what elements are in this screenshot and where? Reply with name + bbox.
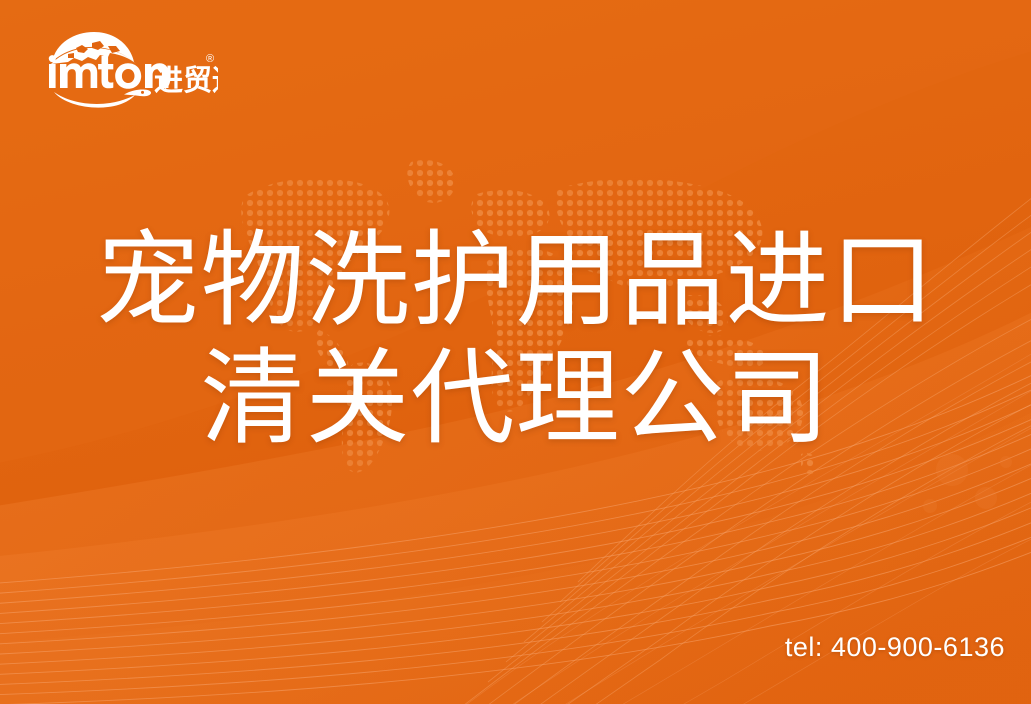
headline-line-2: 清关代理公司 xyxy=(0,340,1031,458)
headline: 宠物洗护用品进口 清关代理公司 xyxy=(0,222,1031,458)
headline-line-1: 宠物洗护用品进口 xyxy=(0,222,1031,340)
brand-logo[interactable]: 进贸通 ® xyxy=(38,26,218,108)
logo-chinese-name: 进贸通 xyxy=(154,64,218,97)
telephone-number[interactable]: tel: 400-900-6136 xyxy=(785,632,1005,663)
poster-canvas: 进贸通 ® 宠物洗护用品进口 清关代理公司 tel: 400-900-6136 xyxy=(0,0,1031,704)
registered-trademark-icon: ® xyxy=(206,53,214,65)
swoosh-icon xyxy=(54,89,151,107)
globe-icon xyxy=(51,32,136,64)
